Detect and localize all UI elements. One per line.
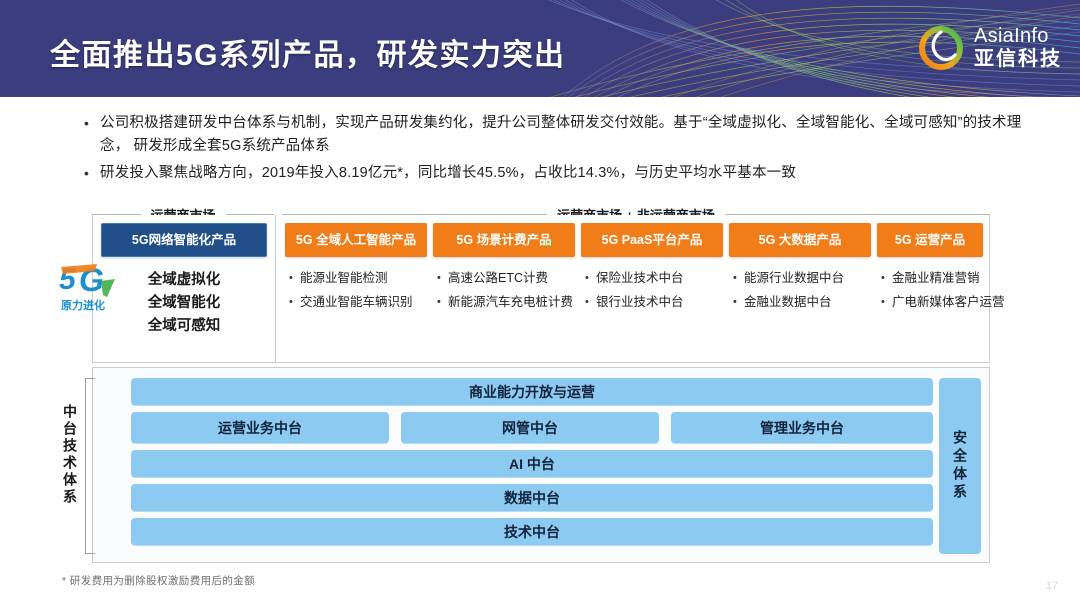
product-column-2-items: •能源业智能检测 •交通业智能车辆识别: [285, 269, 427, 312]
middle-platform-bracket: [85, 378, 95, 554]
bullet-marker: •: [289, 293, 300, 312]
list-item: •银行业技术中台: [585, 293, 723, 312]
product-chip-4[interactable]: 5G PaaS平台产品: [581, 223, 723, 257]
platform-bar-network-management[interactable]: 网管中台: [401, 412, 659, 444]
middle-platform-left-label: 中台技术体系: [63, 404, 77, 506]
bullet-marker: •: [881, 293, 892, 312]
list-item-label: 高速公路ETC计费: [448, 269, 575, 288]
bullet-marker: •: [585, 293, 596, 312]
list-item: •金融业精准营销: [881, 269, 1017, 288]
list-item-label: 保险业技术中台: [596, 269, 723, 288]
list-item-label: 能源行业数据中台: [744, 269, 871, 288]
footnote: * 研发费用为删除股权激励费用后的金额: [62, 573, 255, 588]
bullet-marker: •: [733, 269, 744, 288]
feature-line: 全域智能化: [101, 292, 267, 315]
platform-bar-operations-business[interactable]: 运营业务中台: [131, 412, 389, 444]
list-item-label: 能源业智能检测: [300, 269, 427, 288]
bullet-item: • 公司积极搭建研发中台体系与机制，实现产品研发集约化，提升公司整体研发交付效能…: [84, 112, 1034, 158]
list-item: •能源业智能检测: [289, 269, 427, 288]
force-logo-caption: 原力进化: [61, 298, 105, 312]
list-item-label: 金融业精准营销: [892, 269, 1017, 288]
bullet-marker: •: [84, 162, 100, 185]
page-number: 17: [1046, 580, 1058, 592]
list-item: •能源行业数据中台: [733, 269, 871, 288]
bullet-marker: •: [881, 269, 892, 288]
list-item: •交通业智能车辆识别: [289, 293, 427, 312]
bullet-marker: •: [289, 269, 300, 288]
product-columns-panel: 5 G 原力进化 5G网络智能化产品 全域虚拟化 全域智能化 全域可感知 5G …: [92, 215, 990, 363]
list-item: •广电新媒体客户运营: [881, 293, 1017, 312]
feature-line: 全域虚拟化: [101, 269, 267, 292]
bullet-marker: •: [437, 293, 448, 312]
feature-line: 全域可感知: [101, 315, 267, 338]
page-title: 全面推出5G系列产品，研发实力突出: [50, 30, 566, 74]
brand-logo: AsiaInfo 亚信科技: [917, 24, 1062, 72]
brand-name-en: AsiaInfo: [974, 26, 1062, 47]
product-column-2: 5G 全域人工智能产品 •能源业智能检测 •交通业智能车辆识别: [285, 223, 427, 317]
middle-platform-panel: 中台技术体系 商业能力开放与运营 运营业务中台 网管中台 管理业务中台 AI 中…: [92, 367, 990, 563]
platform-bar-management-business[interactable]: 管理业务中台: [671, 412, 933, 444]
bullet-list: • 公司积极搭建研发中台体系与机制，实现产品研发集约化，提升公司整体研发交付效能…: [84, 112, 1034, 189]
product-column-3-items: •高速公路ETC计费 •新能源汽车充电桩计费: [433, 269, 575, 312]
product-column-1: 5G网络智能化产品 全域虚拟化 全域智能化 全域可感知: [101, 223, 267, 338]
product-column-6: 5G 运营产品 •金融业精准营销 •广电新媒体客户运营: [877, 223, 1017, 317]
platform-bar-ai[interactable]: AI 中台: [131, 450, 933, 478]
bullet-marker: •: [733, 293, 744, 312]
platform-bar-technology[interactable]: 技术中台: [131, 518, 933, 546]
product-chip-5[interactable]: 5G 大数据产品: [729, 223, 871, 257]
product-chip-1[interactable]: 5G网络智能化产品: [101, 223, 267, 257]
security-system-label: 安全体系: [953, 430, 967, 502]
product-column-4-items: •保险业技术中台 •银行业技术中台: [581, 269, 723, 312]
bullet-marker: •: [585, 269, 596, 288]
list-item-label: 新能源汽车充电桩计费: [448, 293, 575, 312]
bullet-item: • 研发投入聚焦战略方向，2019年投入8.19亿元*，同比增长45.5%，占收…: [84, 162, 1034, 185]
list-item: •新能源汽车充电桩计费: [437, 293, 575, 312]
bullet-marker: •: [437, 269, 448, 288]
product-chip-3[interactable]: 5G 场景计费产品: [433, 223, 575, 257]
asiainfo-swirl-icon: [917, 24, 965, 72]
list-item-label: 广电新媒体客户运营: [892, 293, 1017, 312]
product-architecture-diagram: 运营商市场 运营商市场 + 非运营商市场 5 G 原力进化 5G网络: [92, 205, 990, 565]
brand-name-cn: 亚信科技: [974, 49, 1062, 70]
bullet-marker: •: [84, 112, 100, 158]
product-chip-6[interactable]: 5G 运营产品: [877, 223, 983, 257]
list-item-label: 银行业技术中台: [596, 293, 723, 312]
list-item: •保险业技术中台: [585, 269, 723, 288]
column-divider: [275, 215, 276, 362]
slide: 全面推出5G系列产品，研发实力突出 AsiaInfo 亚信科技: [0, 0, 1080, 608]
slide-header: 全面推出5G系列产品，研发实力突出 AsiaInfo 亚信科技: [0, 0, 1080, 97]
list-item-label: 金融业数据中台: [744, 293, 871, 312]
platform-bar-data[interactable]: 数据中台: [131, 484, 933, 512]
list-item: •金融业数据中台: [733, 293, 871, 312]
product-column-3: 5G 场景计费产品 •高速公路ETC计费 •新能源汽车充电桩计费: [433, 223, 575, 317]
product-chip-2[interactable]: 5G 全域人工智能产品: [285, 223, 427, 257]
product-column-5-items: •能源行业数据中台 •金融业数据中台: [729, 269, 871, 312]
product-column-1-lines: 全域虚拟化 全域智能化 全域可感知: [101, 269, 267, 338]
product-column-5: 5G 大数据产品 •能源行业数据中台 •金融业数据中台: [729, 223, 871, 317]
platform-bar-commercial-capability[interactable]: 商业能力开放与运营: [131, 378, 933, 406]
product-column-4: 5G PaaS平台产品 •保险业技术中台 •银行业技术中台: [581, 223, 723, 317]
product-column-6-items: •金融业精准营销 •广电新媒体客户运营: [877, 269, 1017, 312]
list-item-label: 交通业智能车辆识别: [300, 293, 427, 312]
security-system-bar[interactable]: 安全体系: [939, 378, 981, 554]
bullet-text: 公司积极搭建研发中台体系与机制，实现产品研发集约化，提升公司整体研发交付效能。基…: [100, 112, 1034, 158]
list-item: •高速公路ETC计费: [437, 269, 575, 288]
bullet-text: 研发投入聚焦战略方向，2019年投入8.19亿元*，同比增长45.5%，占收比1…: [100, 162, 796, 185]
